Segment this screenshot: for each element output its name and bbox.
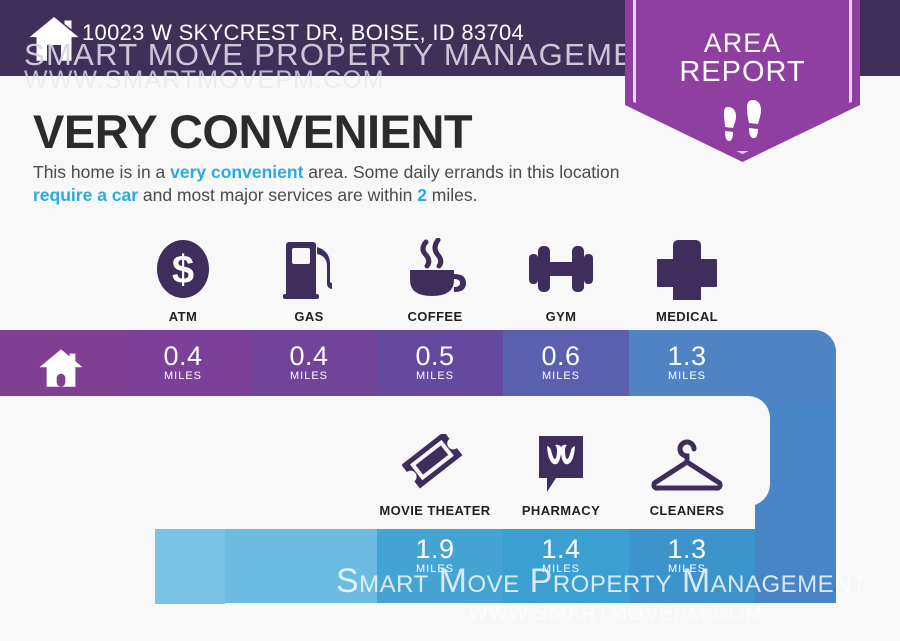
amenity-label: CLEANERS	[624, 503, 750, 518]
medical-cross-icon	[624, 238, 750, 300]
summary-highlight-2: require a car	[33, 185, 138, 205]
summary-part-2: area. Some daily errands in this locatio…	[303, 162, 619, 182]
summary-highlight-1: very convenient	[170, 162, 303, 182]
distance-value: 1.4	[498, 534, 624, 564]
distance-medical: 1.3 MILES	[624, 341, 750, 382]
distance-value: 0.6	[498, 341, 624, 371]
atm-dollar-icon: $	[120, 238, 246, 300]
summary-part-4: miles.	[427, 185, 478, 205]
distance-unit: MILES	[498, 370, 624, 382]
coffee-cup-icon	[372, 238, 498, 300]
amenity-gym[interactable]: GYM	[498, 238, 624, 324]
distance-unit: MILES	[624, 563, 750, 575]
distance-cleaners: 1.3 MILES	[624, 534, 750, 575]
distance-coffee: 0.5 MILES	[372, 341, 498, 382]
home-marker-icon	[38, 345, 84, 391]
page-title: VERY CONVENIENT	[33, 104, 472, 159]
svg-text:$: $	[172, 248, 194, 292]
amenity-label: MOVIE THEATER	[372, 503, 498, 518]
area-report-badge: AREA REPORT	[625, 0, 860, 162]
distance-unit: MILES	[372, 370, 498, 382]
distance-pharmacy: 1.4 MILES	[498, 534, 624, 575]
amenity-pharmacy[interactable]: PHARMACY	[498, 432, 624, 518]
footprints-icon	[625, 98, 860, 151]
distance-value: 1.9	[372, 534, 498, 564]
summary-part-1: This home is in a	[33, 162, 170, 182]
amenity-label: GAS	[246, 309, 372, 324]
summary-part-3: and most major services are within	[138, 185, 417, 205]
pharmacy-w-icon	[498, 432, 624, 494]
movie-ticket-icon	[372, 432, 498, 494]
amenity-gas[interactable]: GAS	[246, 238, 372, 324]
distance-unit: MILES	[498, 563, 624, 575]
distance-unit: MILES	[372, 563, 498, 575]
distance-unit: MILES	[120, 370, 246, 382]
amenity-movie-theater[interactable]: MOVIE THEATER	[372, 432, 498, 518]
distance-value: 0.4	[246, 341, 372, 371]
distance-gym: 0.6 MILES	[498, 341, 624, 382]
white-panel-row3	[0, 604, 770, 641]
amenity-cleaners[interactable]: CLEANERS	[624, 432, 750, 518]
badge-line-2: REPORT	[625, 56, 860, 89]
amenity-label: PHARMACY	[498, 503, 624, 518]
amenity-coffee[interactable]: COFFEE	[372, 238, 498, 324]
amenity-label: GYM	[498, 309, 624, 324]
distance-value: 0.4	[120, 341, 246, 371]
dumbbell-icon	[498, 238, 624, 300]
header-website: WWW.SMARTMOVEPM.COM	[24, 66, 385, 95]
distance-unit: MILES	[624, 370, 750, 382]
amenity-label: MEDICAL	[624, 309, 750, 324]
hanger-icon	[624, 432, 750, 494]
summary-miles-number: 2	[417, 185, 427, 205]
distance-value: 0.5	[372, 341, 498, 371]
badge-line-1: AREA	[625, 28, 860, 59]
summary-text: This home is in a very convenient area. …	[33, 161, 643, 207]
amenity-atm[interactable]: $ ATM	[120, 238, 246, 324]
distance-value: 1.3	[624, 341, 750, 371]
distance-atm: 0.4 MILES	[120, 341, 246, 382]
amenity-label: ATM	[120, 309, 246, 324]
gas-pump-icon	[246, 238, 372, 300]
distance-movie-theater: 1.9 MILES	[372, 534, 498, 575]
amenity-medical[interactable]: MEDICAL	[624, 238, 750, 324]
distance-unit: MILES	[246, 370, 372, 382]
area-report-infographic: 10023 W SKYCREST DR, BOISE, ID 83704 SMA…	[0, 0, 900, 641]
distance-gas: 0.4 MILES	[246, 341, 372, 382]
amenity-label: COFFEE	[372, 309, 498, 324]
distance-value: 1.3	[624, 534, 750, 564]
